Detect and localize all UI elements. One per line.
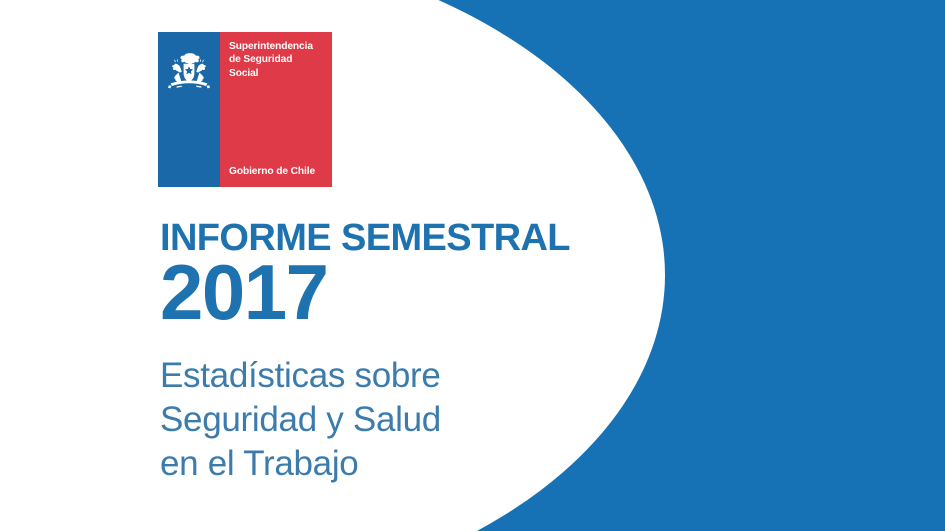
report-subtitle: Estadísticas sobre Seguridad y Salud en … xyxy=(160,354,560,486)
report-year: 2017 xyxy=(160,252,560,332)
government-name: Gobierno de Chile xyxy=(229,166,315,177)
superintendencia-logo: Superintendencia de Seguridad Social Gob… xyxy=(158,32,332,187)
title-block: INFORME SEMESTRAL 2017 Estadísticas sobr… xyxy=(160,218,560,486)
organization-name: Superintendencia de Seguridad Social xyxy=(229,40,328,80)
report-subtitle-line-3: en el Trabajo xyxy=(160,442,560,486)
organization-name-line-3: Social xyxy=(229,67,328,80)
cover-content: Superintendencia de Seguridad Social Gob… xyxy=(0,0,560,531)
report-subtitle-line-1: Estadísticas sobre xyxy=(160,354,560,398)
report-cover: Superintendencia de Seguridad Social Gob… xyxy=(0,0,945,531)
chile-coat-of-arms-icon xyxy=(166,52,212,96)
organization-name-line-2: de Seguridad xyxy=(229,53,328,66)
logo-blue-panel xyxy=(158,32,220,187)
report-subtitle-line-2: Seguridad y Salud xyxy=(160,398,560,442)
organization-name-line-1: Superintendencia xyxy=(229,40,328,53)
logo-red-panel: Superintendencia de Seguridad Social Gob… xyxy=(220,32,332,187)
